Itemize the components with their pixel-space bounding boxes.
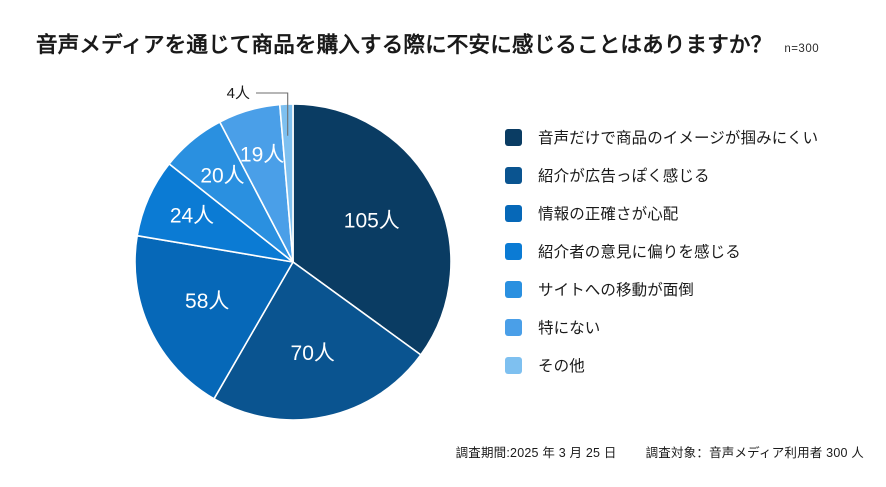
sample-size-label: n=300	[784, 43, 819, 55]
legend-item[interactable]: 音声だけで商品のイメージが掴みにくい	[505, 118, 865, 156]
survey-period: 調査期間:2025 年 3 月 25 日	[456, 446, 617, 460]
pie-slices	[135, 104, 451, 420]
legend-item-label: その他	[538, 354, 585, 376]
legend-item[interactable]: 特にない	[505, 308, 865, 346]
legend-item[interactable]: サイトへの移動が面倒	[505, 270, 865, 308]
legend-color-swatch	[505, 319, 522, 336]
chart-screen: 音声メディアを通じて商品を購入する際に不安に感じることはありますか？ n=300…	[0, 0, 886, 487]
pie-slice-value-label: 19人	[240, 143, 284, 166]
legend-item-label: 特にない	[538, 316, 600, 338]
footer: 調査期間:2025 年 3 月 25 日 調査対象：音声メディア利用者 300 …	[0, 442, 864, 461]
pie-slice-value-label: 58人	[185, 290, 229, 313]
pie-slice-value-label: 105人	[344, 209, 400, 232]
legend-color-swatch	[505, 243, 522, 260]
legend-item-label: 紹介が広告っぽく感じる	[538, 164, 710, 186]
pie-slice-value-label: 70人	[291, 342, 335, 365]
legend-item[interactable]: その他	[505, 346, 865, 384]
legend-item[interactable]: 情報の正確さが心配	[505, 194, 865, 232]
legend: 音声だけで商品のイメージが掴みにくい紹介が広告っぽく感じる情報の正確さが心配紹介…	[505, 118, 865, 384]
legend-item-label: 情報の正確さが心配	[538, 202, 678, 224]
pie-slice-value-label: 20人	[200, 164, 244, 187]
legend-item-label: サイトへの移動が面倒	[538, 278, 694, 300]
pie-slice-callout-label: 4人	[227, 85, 250, 102]
legend-item-label: 音声だけで商品のイメージが掴みにくい	[538, 126, 818, 148]
legend-color-swatch	[505, 357, 522, 374]
legend-color-swatch	[505, 167, 522, 184]
legend-color-swatch	[505, 129, 522, 146]
legend-item[interactable]: 紹介が広告っぽく感じる	[505, 156, 865, 194]
legend-item-label: 紹介者の意見に偏りを感じる	[538, 240, 741, 262]
pie-slice-value-label: 24人	[170, 205, 214, 228]
survey-target: 調査対象：音声メディア利用者 300 人	[646, 446, 864, 460]
legend-item[interactable]: 紹介者の意見に偏りを感じる	[505, 232, 865, 270]
legend-color-swatch	[505, 281, 522, 298]
legend-color-swatch	[505, 205, 522, 222]
